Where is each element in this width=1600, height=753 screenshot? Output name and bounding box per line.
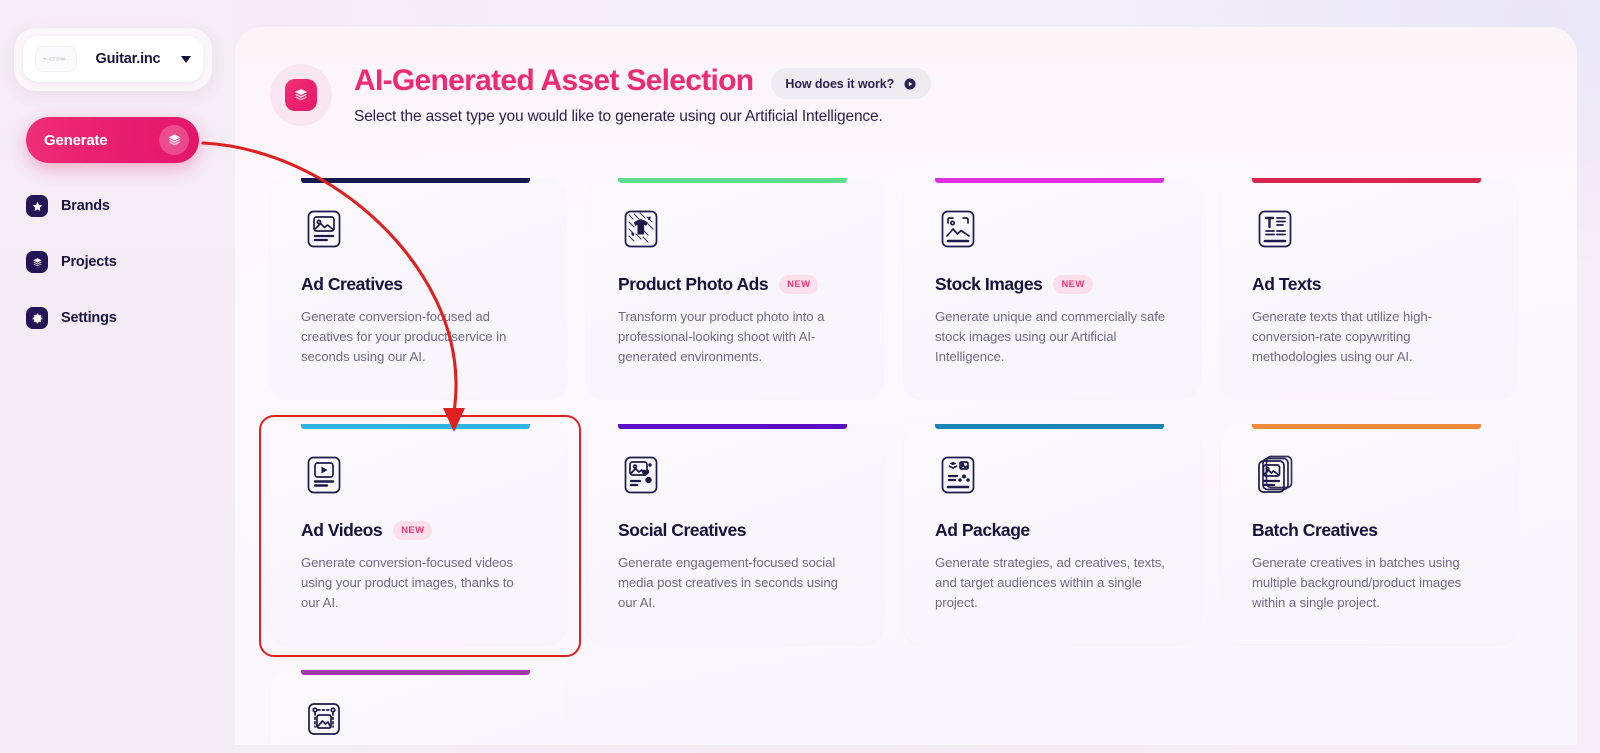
star-icon	[26, 195, 48, 217]
card-title: Product Photo Ads	[618, 274, 768, 295]
asset-card-ad-videos[interactable]: Ad VideosNEWGenerate conversion-focused …	[270, 424, 566, 644]
card-description: Transform your product photo into a prof…	[618, 307, 852, 367]
asset-cards-grid: Ad CreativesGenerate conversion-focused …	[270, 178, 1550, 744]
card-accent-bar	[935, 178, 1164, 183]
card-accent-bar	[1252, 178, 1481, 183]
layers-stack-icon	[285, 79, 317, 111]
brand-selector[interactable]: •-crow- Guitar.inc	[23, 36, 203, 82]
card-description: Generate conversion-focused ad creatives…	[301, 307, 535, 367]
layers-icon	[26, 251, 48, 273]
card-accent-bar	[301, 178, 530, 183]
card-accent-bar	[935, 424, 1164, 429]
play-circle-icon	[903, 77, 917, 91]
sidebar-item-label: Projects	[61, 254, 117, 270]
package-grid-icon	[935, 452, 981, 498]
sidebar-nav: Brands Projects Settings	[26, 190, 206, 358]
stacked-images-icon	[1252, 452, 1298, 498]
card-title: Ad Videos	[301, 520, 382, 541]
brand-avatar-logo: •-crow-	[44, 56, 69, 62]
asset-card-stock-images[interactable]: Stock ImagesNEWGenerate unique and comme…	[904, 178, 1200, 398]
new-badge: NEW	[779, 275, 818, 294]
sidebar: •-crow- Guitar.inc Generate Brands	[0, 0, 234, 753]
layers-cube-icon	[159, 125, 189, 155]
page-title: AI-Generated Asset Selection	[354, 64, 753, 99]
sidebar-item-settings[interactable]: Settings	[26, 302, 206, 334]
card-title: Stock Images	[935, 274, 1042, 295]
page-header-badge	[270, 64, 332, 126]
card-title: Ad Creatives	[301, 274, 403, 295]
card-description: Generate engagement-focused social media…	[618, 553, 852, 613]
card-accent-bar	[301, 424, 530, 429]
card-accent-bar	[301, 670, 530, 675]
card-title: Batch Creatives	[1252, 520, 1378, 541]
image-placeholder-icon	[301, 698, 347, 744]
card-title-row: Ad Package	[935, 520, 1169, 541]
card-title: Ad Texts	[1252, 274, 1321, 295]
tshirt-photo-icon	[618, 206, 664, 252]
card-title-row: Ad Texts	[1252, 274, 1486, 295]
sidebar-item-label: Settings	[61, 310, 117, 326]
page-title-row: AI-Generated Asset Selection How does it…	[354, 64, 931, 99]
how-does-it-work-button[interactable]: How does it work?	[771, 68, 931, 99]
card-title-row: Stock ImagesNEW	[935, 274, 1169, 295]
card-title-row: Social Creatives	[618, 520, 852, 541]
asset-card-product-photo-ads[interactable]: Product Photo AdsNEWTransform your produ…	[587, 178, 883, 398]
chevron-down-icon[interactable]	[181, 56, 191, 63]
asset-cards-scroll-area[interactable]: Ad CreativesGenerate conversion-focused …	[236, 178, 1576, 744]
sidebar-item-projects[interactable]: Projects	[26, 246, 206, 278]
generate-button-label: Generate	[44, 132, 159, 149]
brand-selector-card[interactable]: •-crow- Guitar.inc	[14, 28, 212, 91]
sidebar-item-brands[interactable]: Brands	[26, 190, 206, 222]
sidebar-item-label: Brands	[61, 198, 110, 214]
stock-photo-icon	[935, 206, 981, 252]
brand-name: Guitar.inc	[77, 51, 179, 67]
page-header: AI-Generated Asset Selection How does it…	[236, 28, 1576, 178]
asset-card-ad-texts[interactable]: Ad TextsGenerate texts that utilize high…	[1221, 178, 1517, 398]
main-panel: AI-Generated Asset Selection How does it…	[236, 28, 1576, 744]
card-accent-bar	[1252, 424, 1481, 429]
image-document-icon	[301, 206, 347, 252]
card-description: Generate texts that utilize high-convers…	[1252, 307, 1486, 367]
gear-icon	[26, 307, 48, 329]
new-badge: NEW	[1053, 275, 1092, 294]
social-post-icon	[618, 452, 664, 498]
card-title-row: Batch Creatives	[1252, 520, 1486, 541]
generate-button[interactable]: Generate	[26, 117, 199, 163]
brand-avatar: •-crow-	[35, 46, 77, 72]
new-badge: NEW	[393, 521, 432, 540]
card-title: Ad Package	[935, 520, 1030, 541]
asset-card-social-creatives[interactable]: Social CreativesGenerate engagement-focu…	[587, 424, 883, 644]
card-title-row: Product Photo AdsNEW	[618, 274, 852, 295]
video-play-icon	[301, 452, 347, 498]
text-document-icon	[1252, 206, 1298, 252]
card-title: Social Creatives	[618, 520, 746, 541]
asset-card-ad-creatives[interactable]: Ad CreativesGenerate conversion-focused …	[270, 178, 566, 398]
card-title-row: Ad VideosNEW	[301, 520, 535, 541]
asset-card-batch-creatives[interactable]: Batch CreativesGenerate creatives in bat…	[1221, 424, 1517, 644]
how-does-it-work-label: How does it work?	[785, 77, 894, 91]
card-description: Generate strategies, ad creatives, texts…	[935, 553, 1169, 613]
card-accent-bar	[618, 424, 847, 429]
card-accent-bar	[618, 178, 847, 183]
asset-card-ad-package[interactable]: Ad PackageGenerate strategies, ad creati…	[904, 424, 1200, 644]
asset-card-partial-card[interactable]	[270, 670, 566, 744]
card-title-row: Ad Creatives	[301, 274, 535, 295]
card-description: Generate unique and commercially safe st…	[935, 307, 1169, 367]
card-description: Generate conversion-focused videos using…	[301, 553, 535, 613]
page-subtitle: Select the asset type you would like to …	[354, 108, 931, 126]
card-description: Generate creatives in batches using mult…	[1252, 553, 1486, 613]
